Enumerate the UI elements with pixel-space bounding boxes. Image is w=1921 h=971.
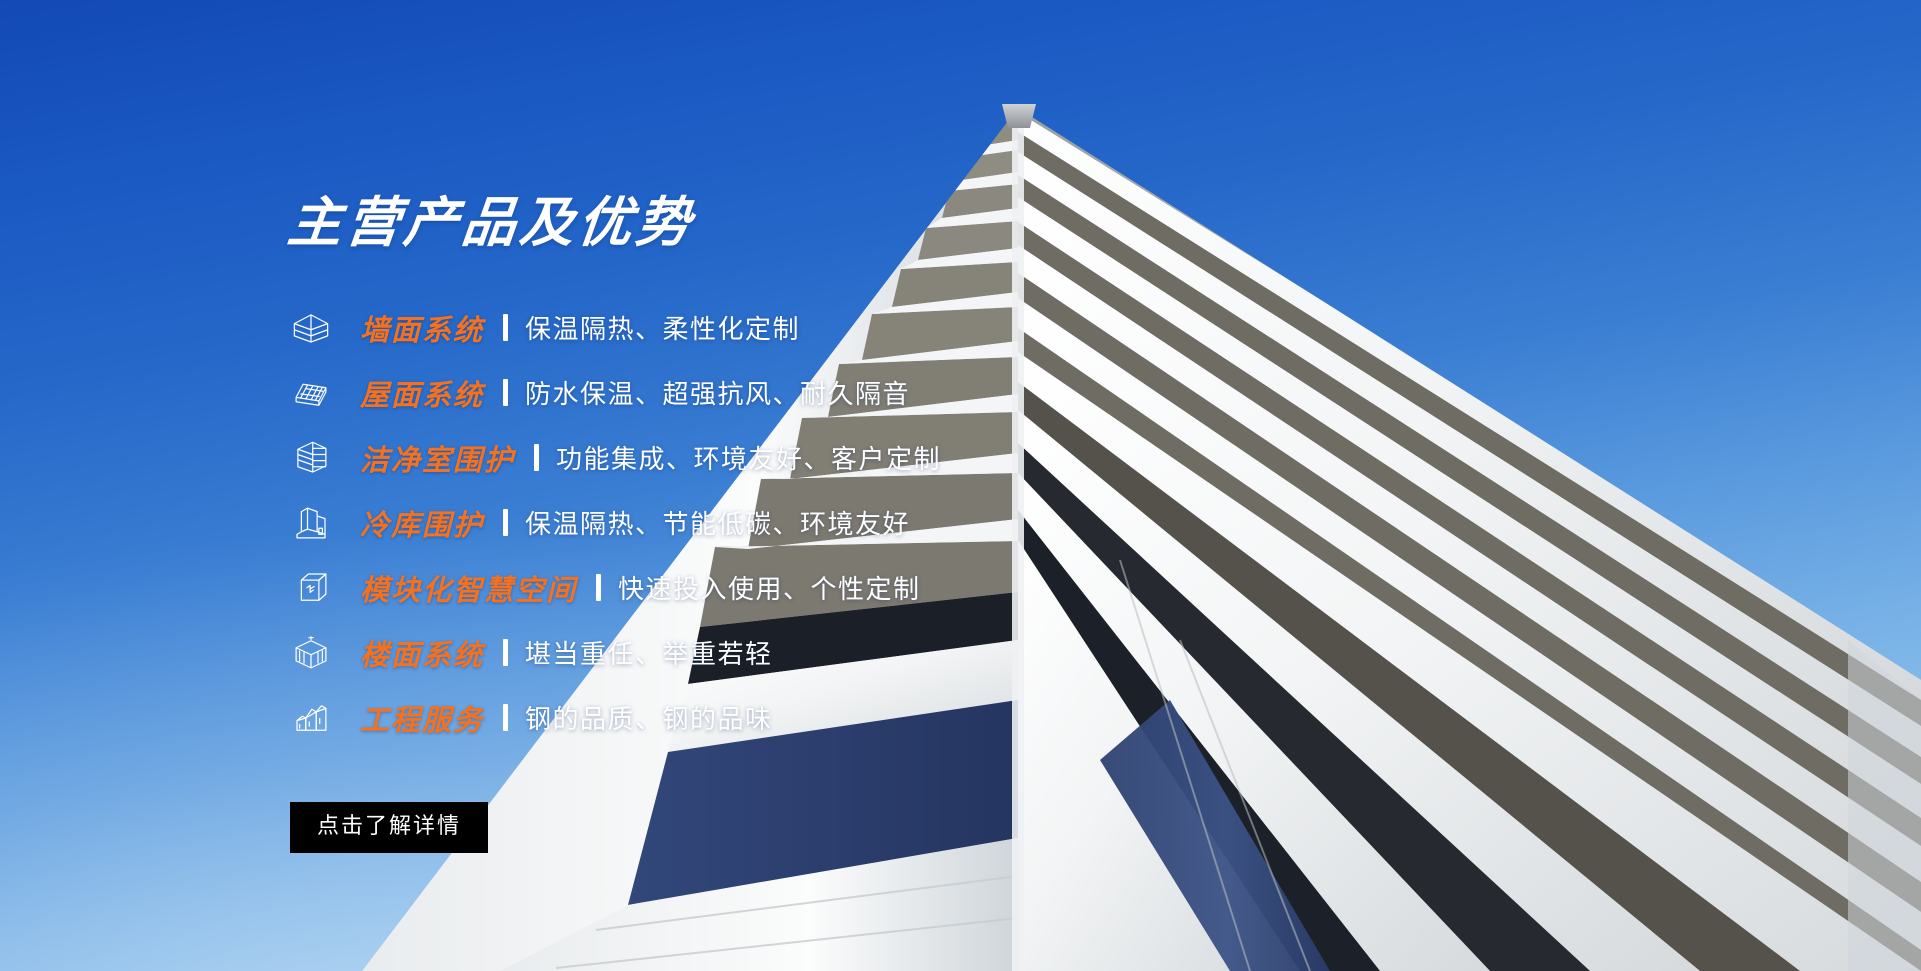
learn-more-button[interactable]: 点击了解详情 (290, 802, 488, 853)
feature-desc: 防水保温、超强抗风、耐久隔音 (525, 374, 910, 411)
feature-separator (503, 379, 508, 406)
feature-title: 墙面系统 (360, 307, 484, 349)
feature-desc: 保温隔热、节能低碳、环境友好 (525, 504, 910, 541)
feature-title: 屋面系统 (360, 372, 484, 414)
feature-row-modular-space[interactable]: 模块化智慧空间 快速投入使用、个性定制 (288, 555, 1188, 620)
feature-row-cleanroom[interactable]: 洁净室围护 功能集成、环境友好、客户定制 (288, 425, 1188, 490)
wall-panel-icon (288, 305, 334, 351)
feature-separator (503, 639, 508, 666)
feature-row-cold-storage[interactable]: 冷库围护 保温隔热、节能低碳、环境友好 (288, 490, 1188, 555)
banner-stage: 主营产品及优势 墙面系统 保温隔热、柔性化定制 (0, 0, 1921, 971)
cold-storage-icon (288, 500, 334, 546)
feature-desc: 快速投入使用、个性定制 (618, 569, 921, 606)
feature-separator (596, 574, 601, 601)
feature-title: 楼面系统 (360, 632, 484, 674)
feature-separator (503, 704, 508, 731)
feature-desc: 功能集成、环境友好、客户定制 (556, 439, 941, 476)
feature-desc: 钢的品质、钢的品味 (525, 699, 773, 736)
feature-title: 工程服务 (360, 697, 484, 739)
feature-desc: 保温隔热、柔性化定制 (525, 309, 800, 346)
feature-row-wall-system[interactable]: 墙面系统 保温隔热、柔性化定制 (288, 295, 1188, 360)
feature-row-floor-system[interactable]: 楼面系统 堪当重任、举重若轻 (288, 620, 1188, 685)
roof-panel-icon (288, 370, 334, 416)
feature-separator (503, 314, 508, 341)
page-title: 主营产品及优势 (285, 196, 1191, 250)
feature-title: 模块化智慧空间 (360, 567, 577, 609)
floor-system-icon (288, 630, 334, 676)
cleanroom-building-icon (288, 435, 334, 481)
feature-row-roof-system[interactable]: 屋面系统 防水保温、超强抗风、耐久隔音 (288, 360, 1188, 425)
feature-separator (503, 509, 508, 536)
content-block: 主营产品及优势 墙面系统 保温隔热、柔性化定制 (288, 196, 1188, 853)
feature-title: 冷库围护 (360, 502, 484, 544)
feature-list: 墙面系统 保温隔热、柔性化定制 屋面系统 防水保温、超强抗风、耐久隔音 (288, 295, 1188, 750)
engineering-service-icon (288, 695, 334, 741)
feature-row-engineering-service[interactable]: 工程服务 钢的品质、钢的品味 (288, 685, 1188, 750)
feature-separator (534, 444, 539, 471)
feature-desc: 堪当重任、举重若轻 (525, 634, 773, 671)
feature-title: 洁净室围护 (360, 437, 515, 479)
modular-cube-icon (288, 565, 334, 611)
